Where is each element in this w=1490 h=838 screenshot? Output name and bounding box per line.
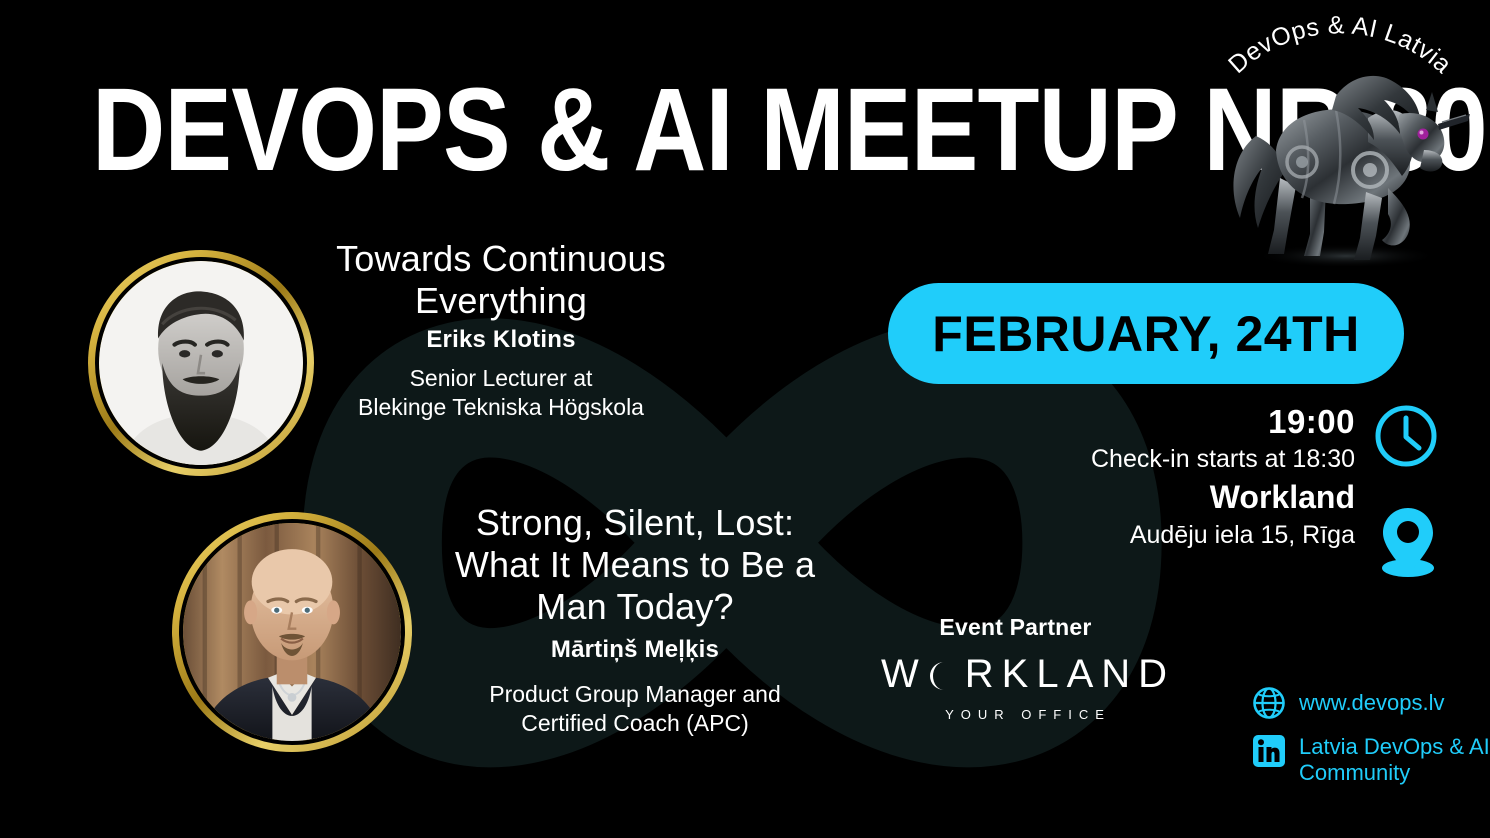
event-checkin: Check-in starts at 18:30 <box>930 442 1355 476</box>
talk-title-1: Towards Continuous Everything <box>300 238 702 322</box>
speaker-name-2: Mārtiņš Meļķis <box>400 636 870 664</box>
event-date-text: FEBRUARY, 24TH <box>932 305 1359 363</box>
speaker-name-1: Eriks Klotins <box>300 326 702 354</box>
partner-logo: W RKLAND YOUR OFFICE <box>878 652 1178 722</box>
talk-title-2: Strong, Silent, Lost: What It Means to B… <box>400 502 870 628</box>
avatar <box>88 250 314 476</box>
linkedin-label: Latvia DevOps & AI Community <box>1299 734 1490 786</box>
speaker-role-line: Certified Coach (APC) <box>521 710 749 736</box>
event-date-badge: FEBRUARY, 24TH <box>888 283 1404 384</box>
speaker-role-line: Blekinge Tekniska Högskola <box>358 394 644 420</box>
clock-icon <box>1373 403 1439 469</box>
linkedin-label-line: Community <box>1299 760 1410 785</box>
talk-title-line: Towards Continuous <box>336 238 666 279</box>
speaker-role-line: Senior Lecturer at <box>410 365 593 391</box>
event-poster: DEVOPS & AI MEETUP NR.30 DevOps & AI Lat… <box>0 0 1490 838</box>
talk-title-line: Everything <box>415 280 587 321</box>
robotic-unicorn-icon <box>1218 58 1473 266</box>
speaker-role-2: Product Group Manager and Certified Coac… <box>400 680 870 738</box>
avatar <box>172 512 412 752</box>
talk-title-line: Man Today? <box>536 586 733 627</box>
speaker-photo-1 <box>99 261 303 465</box>
speaker-photo-2 <box>183 523 401 741</box>
partner-label: Event Partner <box>878 614 1153 641</box>
location-pin-icon <box>1376 506 1440 578</box>
linkedin-icon <box>1252 734 1286 768</box>
partner-tagline: YOUR OFFICE <box>878 707 1178 722</box>
page-title: DEVOPS & AI MEETUP NR.30 <box>92 74 1047 186</box>
talk-title-line: What It Means to Be a <box>455 544 815 585</box>
speaker-role-line: Product Group Manager and <box>489 681 781 707</box>
talk-title-line: Strong, Silent, Lost: <box>476 502 794 543</box>
speaker-role-1: Senior Lecturer at Blekinge Tekniska Hög… <box>290 364 712 422</box>
partner-name-part1: W <box>881 652 927 697</box>
social-link-linkedin[interactable]: Latvia DevOps & AI Community <box>1252 734 1490 786</box>
event-venue: Workland <box>930 476 1355 518</box>
event-address: Audēju iela 15, Rīga <box>930 518 1355 552</box>
partner-wordmark: W RKLAND <box>881 652 1175 697</box>
community-logo: DevOps & AI Latvia <box>1198 8 1482 270</box>
event-time: 19:00 <box>930 402 1355 442</box>
social-link-website[interactable]: www.devops.lv <box>1252 686 1445 720</box>
partner-crescent-o-icon <box>929 661 956 688</box>
event-details: 19:00 Check-in starts at 18:30 Workland … <box>930 402 1355 552</box>
linkedin-label-line: Latvia DevOps & AI <box>1299 734 1490 759</box>
website-url: www.devops.lv <box>1299 690 1445 716</box>
globe-icon <box>1252 686 1286 720</box>
partner-name-part2: RKLAND <box>965 652 1175 697</box>
